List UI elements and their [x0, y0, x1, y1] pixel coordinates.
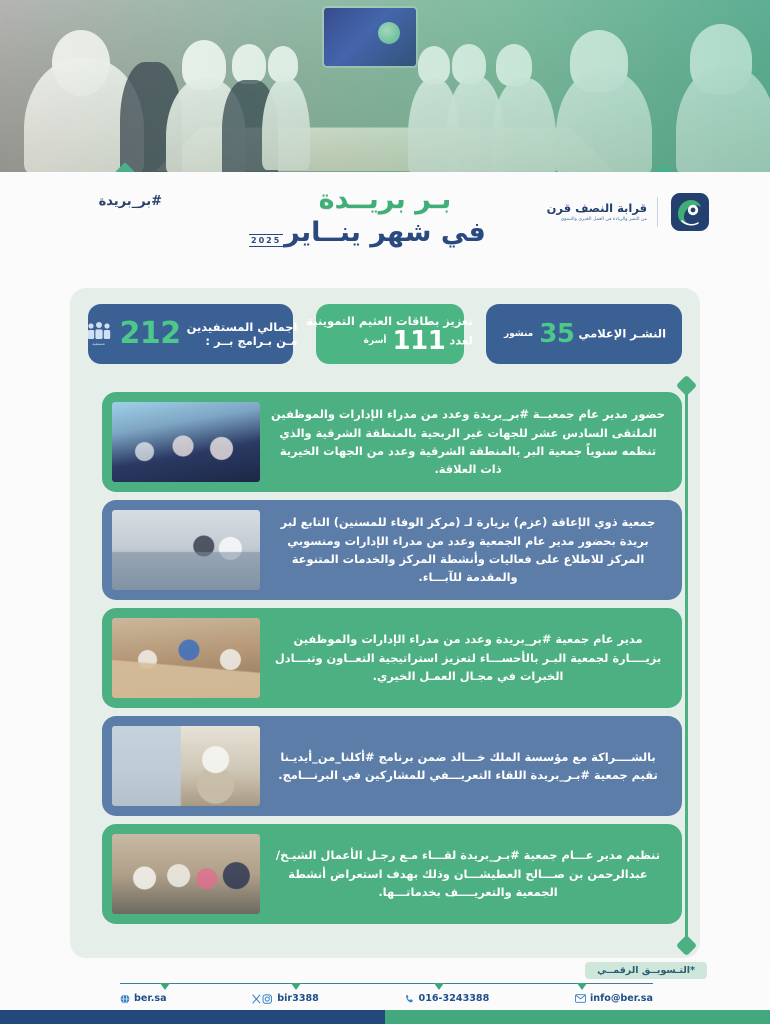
stat-media-number: 35 [539, 321, 574, 347]
rail-diamond-bottom-icon [676, 935, 697, 956]
king-khalid-foundation-photo [112, 726, 260, 806]
stat-beneficiaries-label-1: اجمالي المستفيدين [187, 320, 298, 334]
footer-contact-phone[interactable]: 016-3243388 [405, 993, 490, 1004]
card-text: حضور مدير عام جمعيــة #بر_بريدة وعدد من … [260, 399, 682, 485]
stat-media-unit: منشور [504, 329, 533, 340]
connector-rail [685, 384, 688, 946]
footer-contact-website[interactable]: ber.sa [120, 993, 167, 1004]
footer-contact-email[interactable]: info@ber.sa [575, 993, 653, 1004]
hero-photo [0, 0, 770, 172]
organization-logo: قرابة النصف قرن من التميز والريادة في ال… [547, 190, 712, 234]
stat-food-cards: تعزيز بطاقات العثيم التموينية لعدد 111 أ… [316, 304, 464, 364]
stat-media-publishing: النشـر الإعلامي 35 منشور [486, 304, 682, 364]
azm-alwafa-visit-photo [112, 510, 260, 590]
footer-phone-value: 016-3243388 [419, 993, 490, 1004]
stat-food-unit: أسرة [364, 336, 387, 347]
footer-contact-social[interactable]: bir3388 [252, 993, 319, 1004]
card-text: جمعية ذوي الإعاقة (عزم) بزيارة لـ (مركز … [260, 507, 682, 593]
bottom-color-bar [0, 1010, 770, 1024]
statistics-bar: النشـر الإعلامي 35 منشور تعزيز بطاقات ال… [70, 288, 700, 380]
envelope-icon [575, 994, 586, 1003]
phone-icon [405, 994, 415, 1004]
digital-marketing-badge: *التـسويــق الرقمــي [585, 962, 707, 979]
alahsa-birr-visit-photo [112, 618, 260, 698]
stat-beneficiaries-label-2: مـن بـرامج بــر : [205, 334, 297, 348]
main-panel: النشـر الإعلامي 35 منشور تعزيز بطاقات ال… [70, 288, 700, 958]
activity-card-azm-alwafa-visit[interactable]: جمعية ذوي الإعاقة (عزم) بزيارة لـ (مركز … [102, 500, 682, 600]
logo-text: قرابة النصف قرن من التميز والريادة في ال… [547, 202, 647, 223]
x-instagram-icon [252, 994, 273, 1004]
globe-icon [120, 994, 130, 1004]
activity-cards-list: حضور مدير عام جمعيــة #بر_بريدة وعدد من … [88, 392, 682, 932]
footer-website-value: ber.sa [134, 993, 167, 1004]
footer-tick-3-icon [434, 983, 444, 990]
footer-email-value: info@ber.sa [590, 993, 653, 1004]
footer-tick-2-icon [291, 983, 301, 990]
beneficiaries-icon-caption: مستفيد [92, 341, 105, 346]
logo-name: قرابة النصف قرن [547, 202, 647, 215]
header: #بر_بريدة بـر بريــدة في شهر ينــاير 202… [0, 172, 770, 290]
footer-social-value: bir3388 [277, 993, 319, 1004]
logo-mark-icon [668, 190, 712, 234]
activity-card-king-khalid-foundation[interactable]: بالشــــراكة مع مؤسسة الملك خـــالد ضمن … [102, 716, 682, 816]
card-text: مدير عام جمعية #بر_بريدة وعدد من مدراء ا… [260, 624, 682, 691]
footer-divider-line [120, 983, 653, 984]
footer-tick-1-icon [160, 983, 170, 990]
hero-banner [0, 0, 770, 172]
footer-tick-4-icon [577, 983, 587, 990]
stat-media-label: النشـر الإعلامي [578, 327, 666, 341]
bottom-bar-green [385, 1010, 770, 1024]
activity-card-eastern-region-forum[interactable]: حضور مدير عام جمعيــة #بر_بريدة وعدد من … [102, 392, 682, 492]
activity-card-alahsa-birr-visit[interactable]: مدير عام جمعية #بر_بريدة وعدد من مدراء ا… [102, 608, 682, 708]
logo-tagline: من التميز والريادة في العمل الخيري والتن… [547, 217, 647, 222]
bottom-bar-blue [0, 1010, 385, 1024]
hero-green-overlay [0, 0, 770, 172]
stat-food-prefix: لعدد [449, 334, 472, 348]
title-year: 2025 [249, 234, 283, 247]
businessman-meeting-photo [112, 834, 260, 914]
card-text: تنظيم مدير عـــام جمعية #بـر_بريدة لقـــ… [260, 840, 682, 907]
card-text: بالشــــراكة مع مؤسسة الملك خـــالد ضمن … [260, 742, 682, 791]
stat-food-number: 111 [393, 328, 446, 354]
stat-beneficiaries-number: 212 [120, 319, 181, 349]
beneficiaries-group-icon: مستفيد [84, 319, 114, 349]
footer-contacts: info@ber.sa 016-3243388 [120, 993, 653, 1004]
stat-total-beneficiaries: اجمالي المستفيدين مـن بـرامج بــر : 212 … [88, 304, 293, 364]
infographic-page: #بر_بريدة بـر بريــدة في شهر ينــاير 202… [0, 0, 770, 1024]
eastern-region-forum-photo [112, 402, 260, 482]
stat-food-label: تعزيز بطاقات العثيم التموينية [306, 314, 472, 328]
activity-card-businessman-meeting[interactable]: تنظيم مدير عـــام جمعية #بـر_بريدة لقـــ… [102, 824, 682, 924]
logo-divider [657, 197, 658, 227]
